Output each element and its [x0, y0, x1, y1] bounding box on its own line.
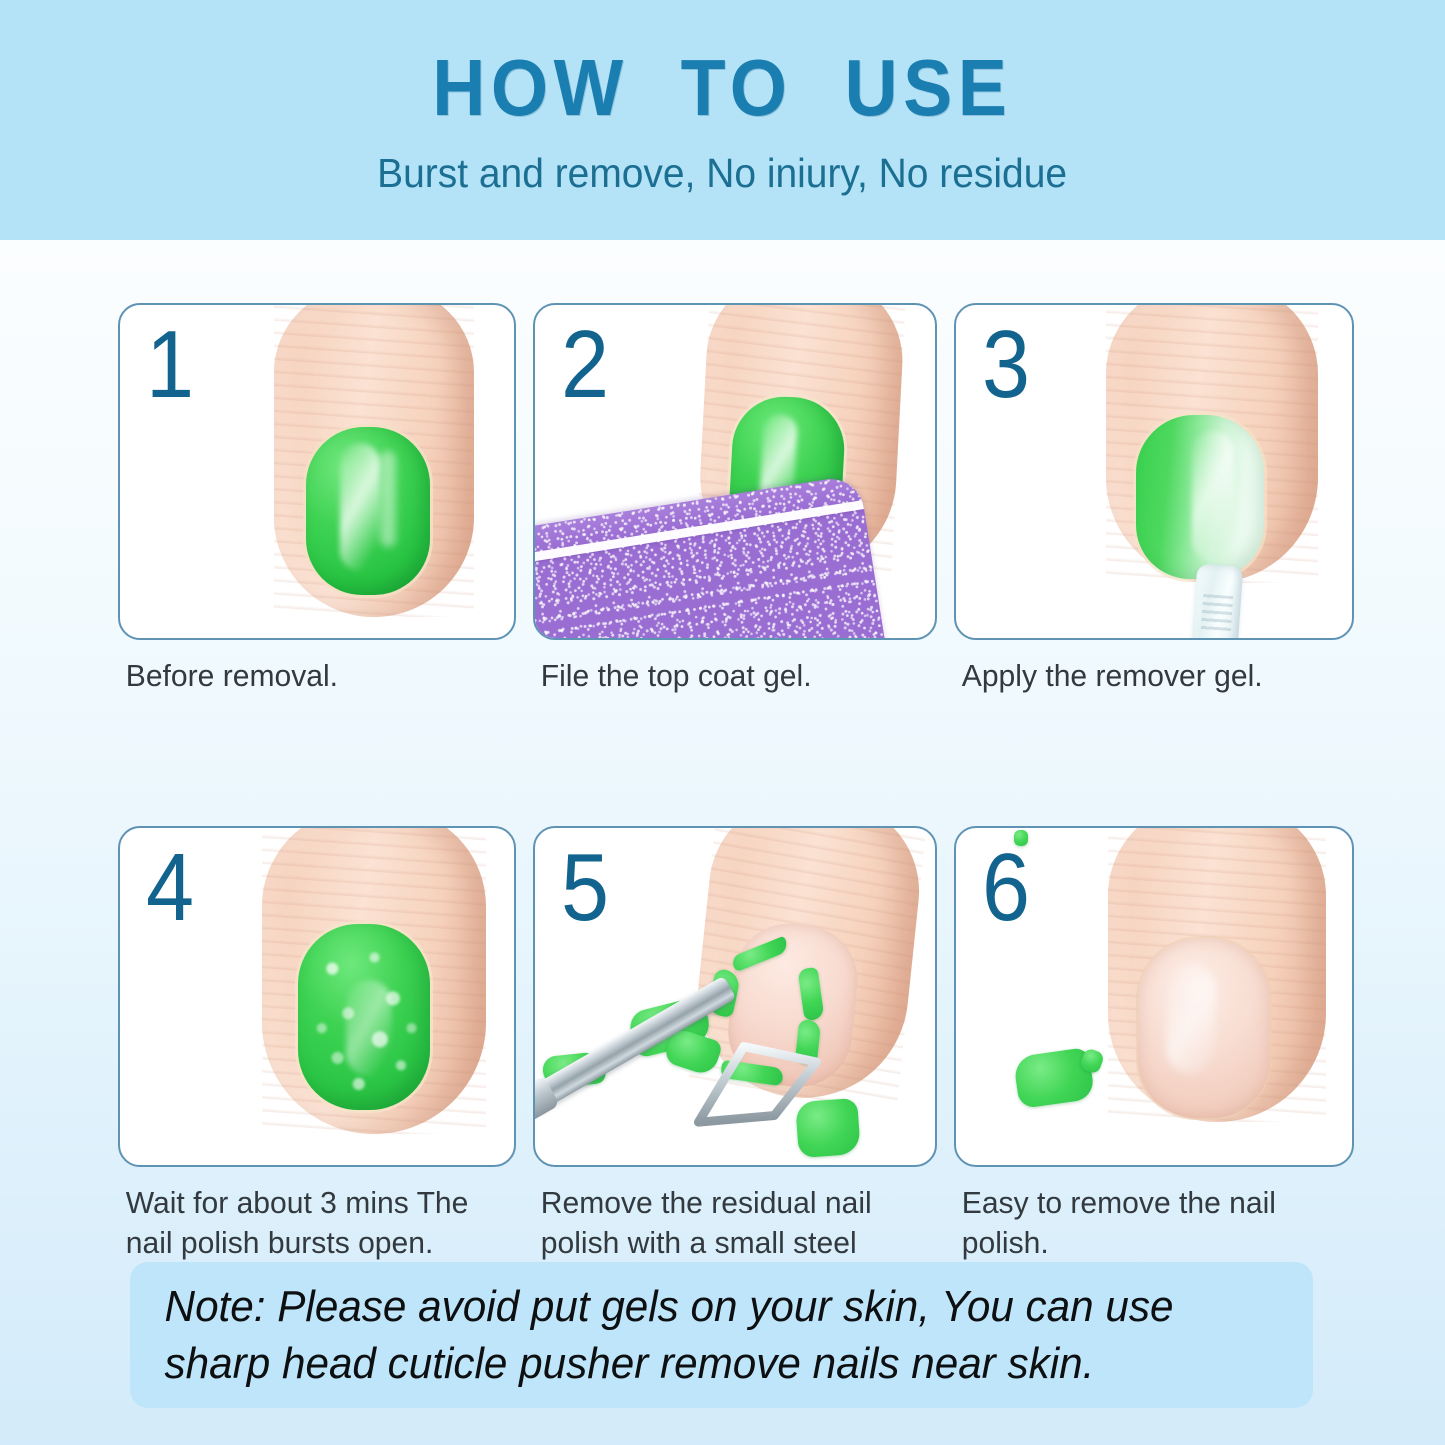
steps-grid: 1 Before removal. 2	[118, 303, 1340, 1287]
step-number-2: 2	[561, 315, 609, 416]
step-cell-2: 2 File the top coat gel.	[533, 303, 937, 724]
step-number-1: 1	[146, 315, 194, 416]
step-number-3: 3	[982, 315, 1030, 416]
step-card-1: 1	[118, 303, 516, 640]
nail-with-gel	[1136, 415, 1264, 579]
step-cell-5: 5	[533, 826, 937, 1287]
buffer-grit-texture	[533, 474, 887, 640]
step-cell-4: 4 Wait for about 3 mins The nail polish …	[118, 826, 516, 1287]
pusher-loop-head-icon	[683, 1021, 837, 1136]
step-card-3: 3	[954, 303, 1354, 640]
bare-clean-nail	[1138, 938, 1270, 1118]
header-band: HOW TO USE Burst and remove, No iniury, …	[0, 0, 1445, 240]
gel-gloss	[1192, 431, 1234, 561]
page-title: HOW TO USE	[432, 48, 1012, 128]
green-nail	[306, 427, 430, 595]
infographic-page: HOW TO USE Burst and remove, No iniury, …	[0, 0, 1445, 1445]
step-number-5: 5	[561, 838, 609, 939]
bubbled-green-nail	[298, 924, 430, 1110]
step-caption-1: Before removal.	[118, 640, 504, 724]
nail-gloss	[346, 980, 392, 1076]
step-cell-6: 6 Easy to remove the nail polish.	[954, 826, 1354, 1287]
nail-gloss	[340, 443, 380, 571]
step-cell-3: 3 Apply the remover gel.	[954, 303, 1354, 724]
step-card-4: 4	[118, 826, 516, 1167]
step-cell-1: 1 Before removal.	[118, 303, 516, 724]
gel-brush-applicator	[1191, 564, 1244, 640]
step-caption-3: Apply the remover gel.	[954, 640, 1342, 724]
note-text: Note: Please avoid put gels on your skin…	[130, 1278, 1208, 1392]
step-number-6: 6	[982, 838, 1030, 939]
nail-sheen	[1166, 964, 1216, 1074]
brush-bristle-marks	[1201, 594, 1234, 634]
note-box: Note: Please avoid put gels on your skin…	[130, 1262, 1313, 1408]
nail-gloss-secondary	[380, 451, 396, 547]
step-number-4: 4	[146, 838, 194, 939]
step-card-2: 2	[533, 303, 937, 640]
page-subtitle: Burst and remove, No iniury, No residue	[378, 150, 1068, 197]
pusher-ferrule	[533, 1075, 560, 1124]
step-card-6: 6	[954, 826, 1354, 1167]
step-caption-2: File the top coat gel.	[533, 640, 925, 724]
step-card-5: 5	[533, 826, 937, 1167]
buffer-block	[533, 474, 887, 640]
